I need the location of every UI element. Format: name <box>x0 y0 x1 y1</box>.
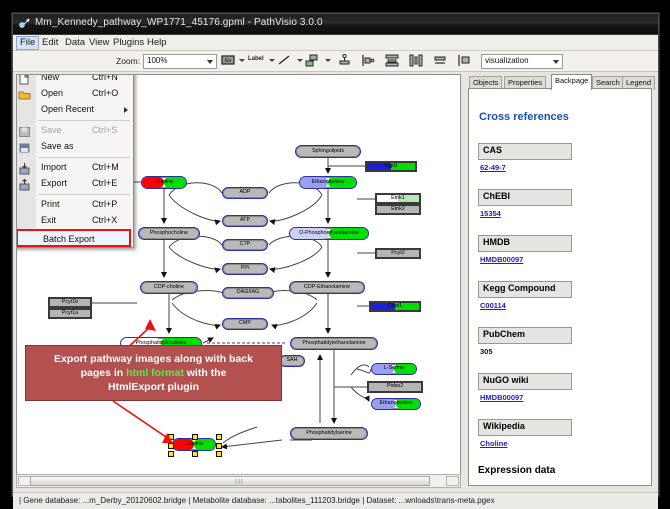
canvas-hscrollbar[interactable]: III <box>16 474 461 488</box>
xref-source-pubchem: PubChem <box>478 327 572 344</box>
line-icon[interactable] <box>277 54 291 66</box>
xref-source-cas: CAS <box>478 143 572 160</box>
xref-value-kegg-compound[interactable]: C00114 <box>480 301 506 310</box>
application-window: Mm_Kennedy_pathway_WP1771_45176.gpml - P… <box>12 13 659 496</box>
annotation-callout: Export pathway images along with back pa… <box>25 345 282 401</box>
menu-item-open-accelerator: Ctrl+O <box>92 88 118 98</box>
title-bar: Mm_Kennedy_pathway_WP1771_45176.gpml - P… <box>13 14 658 35</box>
file-menu-dropdown[interactable]: NewCtrl+NOpenCtrl+OOpen RecentSaveCtrl+S… <box>16 74 134 248</box>
datanode-icon[interactable]: Gn <box>221 54 235 66</box>
open-folder-icon <box>18 88 31 100</box>
menu-bar: File Edit Data View Plugins Help <box>13 35 658 51</box>
cross-references-heading: Cross references <box>479 111 569 123</box>
xref-value-pubchem: 305 <box>480 347 493 356</box>
menu-item-print-label: Print <box>41 199 60 209</box>
menu-item-open-recent[interactable]: Open Recent <box>16 102 133 118</box>
zoom-value: 100% <box>147 56 167 65</box>
menu-item-import[interactable]: ImportCtrl+M <box>16 160 133 176</box>
xref-value-nugo-wiki[interactable]: HMDB00097 <box>480 393 523 402</box>
menu-item-save-as-label: Save as <box>41 141 74 151</box>
menu-file[interactable]: File <box>16 36 39 50</box>
label-button[interactable]: Label <box>248 56 264 62</box>
menu-item-import-label: Import <box>41 162 67 172</box>
save-disk-icon <box>18 125 31 137</box>
menu-item-export-label: Export <box>41 178 67 188</box>
xref-source-label: NuGO wiki <box>483 375 529 385</box>
xref-source-wikipedia: Wikipedia <box>478 419 572 436</box>
xref-value-wikipedia[interactable]: Choline <box>480 439 508 448</box>
zoom-combo[interactable]: 100% <box>143 54 217 69</box>
callout-line2-post: with the <box>184 367 227 379</box>
xref-source-nugo-wiki: NuGO wiki <box>478 373 572 390</box>
menu-item-exit-label: Exit <box>41 215 56 225</box>
same-width-icon[interactable] <box>433 54 447 67</box>
new-file-icon <box>18 74 31 84</box>
shape-caret-icon[interactable] <box>325 59 331 62</box>
xref-source-label: Wikipedia <box>483 421 525 431</box>
menu-item-save-label: Save <box>41 125 62 135</box>
chevron-down-icon <box>553 60 559 64</box>
main-body: SphingolipidsCholineEthanolamineADPATPPh… <box>13 72 658 492</box>
pathvisio-icon <box>18 18 30 30</box>
toolbar: Zoom: 100% Gn Label <box>13 51 658 72</box>
visualization-value: visualization <box>485 56 529 65</box>
xref-source-label: PubChem <box>483 329 525 339</box>
same-height-icon[interactable] <box>457 54 471 67</box>
xref-value-cas[interactable]: 62-49-7 <box>480 163 506 172</box>
window-title: Mm_Kennedy_pathway_WP1771_45176.gpml - P… <box>35 17 323 28</box>
menu-item-new-accelerator: Ctrl+N <box>92 74 118 82</box>
menu-item-save: SaveCtrl+S <box>16 123 133 139</box>
backpage-content[interactable]: Cross references CAS62-49-7ChEBI15354HMD… <box>468 88 652 486</box>
import-icon <box>18 162 31 174</box>
zoom-label: Zoom: <box>116 56 140 66</box>
shape-icon[interactable] <box>305 54 319 67</box>
menu-item-open-recent-label: Open Recent <box>41 104 94 114</box>
pathway-canvas[interactable]: SphingolipidsCholineEthanolamineADPATPPh… <box>16 74 461 475</box>
menu-item-save-accelerator: Ctrl+S <box>92 125 117 135</box>
menu-item-open[interactable]: OpenCtrl+O <box>16 86 133 102</box>
expression-data-heading: Expression data <box>478 465 555 476</box>
status-text: | Gene database: ...m_Derby_20120602.bri… <box>19 496 495 505</box>
svg-text:Gn: Gn <box>225 58 232 64</box>
menu-item-print[interactable]: PrintCtrl+P <box>16 197 133 213</box>
line-caret-icon[interactable] <box>297 59 303 62</box>
scroll-grip-icon: III <box>235 479 244 486</box>
xref-source-label: CAS <box>483 145 502 155</box>
xref-source-kegg-compound: Kegg Compound <box>478 281 572 298</box>
callout-line1: Export pathway images along with back <box>54 353 253 365</box>
tab-backpage[interactable]: Backpage <box>551 74 592 90</box>
menu-item-exit[interactable]: ExitCtrl+X <box>16 213 133 229</box>
save-as-icon <box>18 141 31 153</box>
xref-source-label: Kegg Compound <box>483 283 556 293</box>
side-panel-tabs: Objects Properties Backpage Search Legen… <box>462 74 652 88</box>
scroll-right-arrow[interactable] <box>446 476 459 486</box>
menu-item-open-label: Open <box>41 88 63 98</box>
menu-item-export-accelerator: Ctrl+E <box>92 178 117 188</box>
callout-line2-highlight: html format <box>126 367 184 379</box>
screenshot-root: Mm_Kennedy_pathway_WP1771_45176.gpml - P… <box>0 0 670 509</box>
menu-item-new[interactable]: NewCtrl+N <box>16 74 133 86</box>
align-top-icon[interactable] <box>338 54 351 67</box>
chevron-down-icon <box>207 60 213 64</box>
distribute-vertical-icon[interactable] <box>385 54 399 67</box>
menu-help[interactable]: Help <box>143 36 171 50</box>
menu-item-batch-export-label: Batch Export <box>43 234 95 244</box>
xref-source-label: HMDB <box>483 237 510 247</box>
menu-item-print-accelerator: Ctrl+P <box>92 199 117 209</box>
submenu-arrow-icon <box>124 107 128 113</box>
side-panel: Objects Properties Backpage Search Legen… <box>462 74 652 488</box>
distribute-horizontal-icon[interactable] <box>409 54 423 67</box>
visualization-combo[interactable]: visualization <box>481 54 563 69</box>
callout-line3: HtmlExport plugin <box>108 381 199 393</box>
datanode-caret-icon[interactable] <box>239 59 245 62</box>
xref-source-label: ChEBI <box>483 191 510 201</box>
xref-value-hmdb[interactable]: HMDB00097 <box>480 255 523 264</box>
xref-source-hmdb: HMDB <box>478 235 572 252</box>
menu-item-save-as[interactable]: Save as <box>16 139 133 155</box>
menu-item-new-label: New <box>41 74 59 82</box>
label-caret-icon[interactable] <box>269 59 275 62</box>
menu-edit[interactable]: Edit <box>38 36 62 50</box>
menu-item-exit-accelerator: Ctrl+X <box>92 215 117 225</box>
menu-item-export[interactable]: ExportCtrl+E <box>16 176 133 192</box>
menu-item-import-accelerator: Ctrl+M <box>92 162 119 172</box>
xref-value-chebi[interactable]: 15354 <box>480 209 501 218</box>
batch-export-highlight: Batch Export <box>16 229 131 247</box>
callout-line2-pre: pages in <box>81 367 127 379</box>
status-bar: | Gene database: ...m_Derby_20120602.bri… <box>13 492 658 509</box>
align-left-icon[interactable] <box>361 54 375 67</box>
export-icon <box>18 178 31 190</box>
scroll-thumb[interactable] <box>30 476 430 486</box>
menu-item-batch-export[interactable]: Batch Export <box>16 229 133 247</box>
xref-source-chebi: ChEBI <box>478 189 572 206</box>
